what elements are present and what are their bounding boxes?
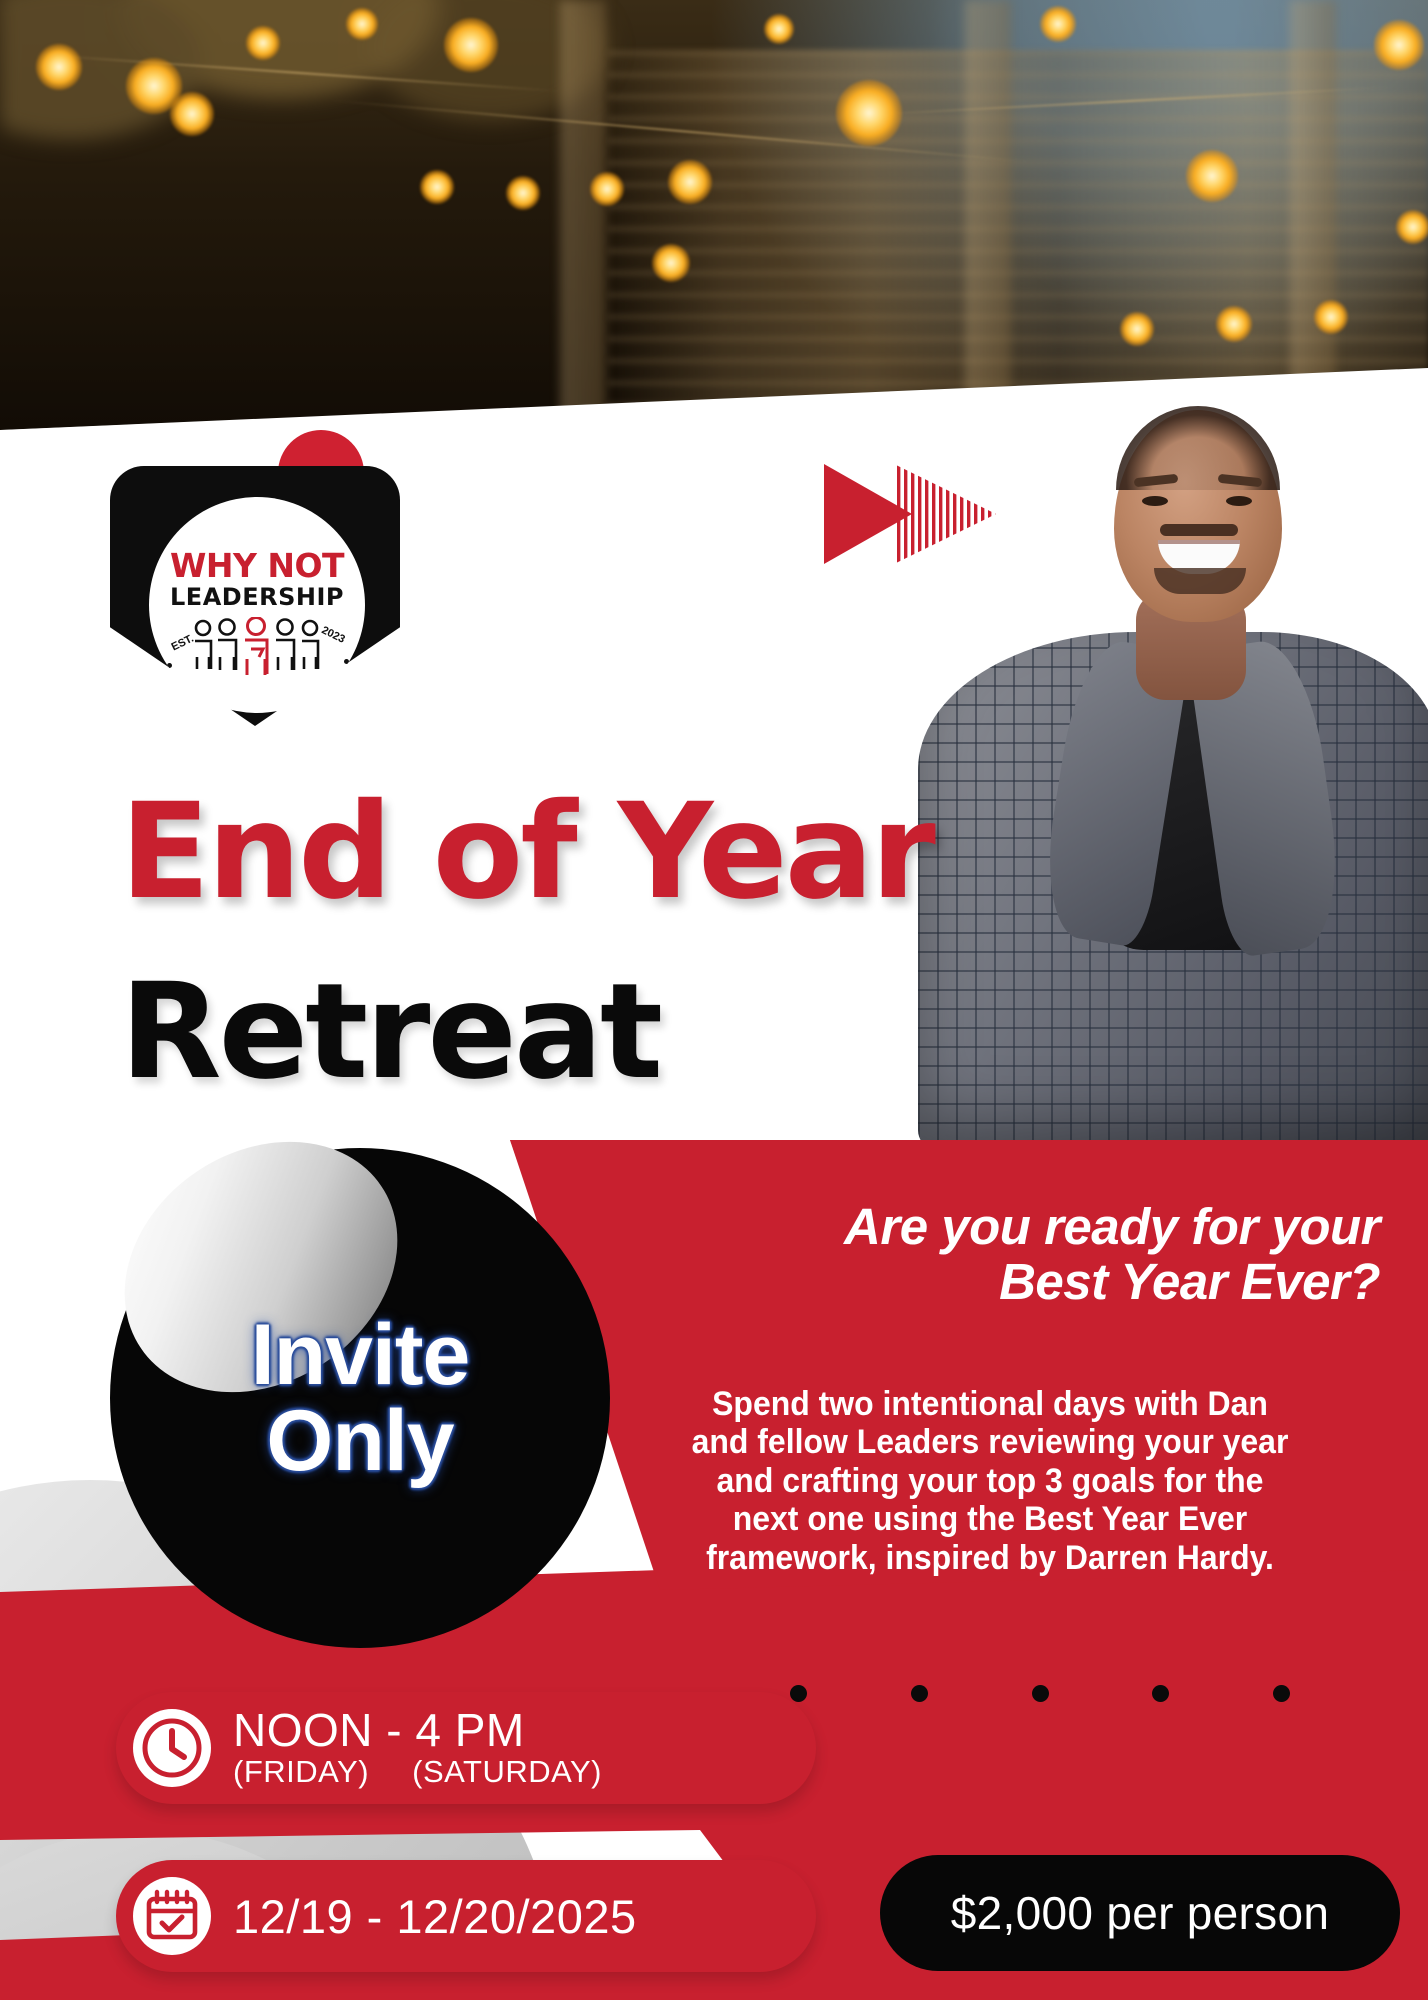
decor-dot	[1152, 1685, 1169, 1702]
page-title-line2: Retreat	[120, 966, 660, 1098]
time-pill: NOON - 4 PM (FRIDAY) (SATURDAY)	[116, 1692, 816, 1804]
string-light-bulb	[1040, 6, 1076, 42]
string-light-bulb	[1374, 20, 1424, 70]
people-group-icon	[191, 617, 323, 687]
string-light-bulb	[590, 172, 624, 206]
photo-post	[560, 0, 606, 430]
string-light-bulb	[36, 44, 82, 90]
speaker-moustache	[1160, 524, 1238, 536]
string-light-bulb	[668, 160, 712, 204]
speaker-eye	[1226, 496, 1252, 506]
string-light-bulb	[420, 170, 454, 204]
time-sub: (FRIDAY) (SATURDAY)	[233, 1755, 636, 1788]
time-sub-friday: (FRIDAY)	[233, 1754, 369, 1789]
photo-post	[965, 0, 1011, 430]
date-pill-text: 12/19 - 12/20/2025	[233, 1889, 637, 1944]
logo-line1: WHY NOT	[170, 549, 344, 582]
string-light-bulb	[1216, 306, 1252, 342]
date-range: 12/19 - 12/20/2025	[233, 1889, 637, 1944]
logo-line2: LEADERSHIP	[170, 585, 344, 609]
string-light-bulb	[836, 80, 902, 146]
string-light-bulb	[170, 92, 214, 136]
calendar-check-icon	[133, 1877, 211, 1955]
string-light-bulb	[346, 8, 378, 40]
decor-dots-row	[790, 1685, 1290, 1702]
decor-dot	[911, 1685, 928, 1702]
poster-canvas: WHY NOT LEADERSHIP EST. 2023	[0, 0, 1428, 2000]
decor-dot	[1032, 1685, 1049, 1702]
why-not-leadership-logo: WHY NOT LEADERSHIP EST. 2023	[149, 497, 365, 713]
time-main: NOON - 4 PM	[233, 1707, 636, 1755]
logo-year-label: 2023	[319, 624, 346, 646]
panel-body-text: Spend two intentional days with Dan and …	[680, 1385, 1300, 1577]
string-light-bulb	[1314, 300, 1348, 334]
price-label: $2,000 per person	[951, 1886, 1330, 1940]
clock-icon	[133, 1709, 211, 1787]
price-pill: $2,000 per person	[880, 1855, 1400, 1971]
string-light-bulb	[652, 244, 690, 282]
string-light-bulb	[444, 18, 498, 72]
decor-dot	[790, 1685, 807, 1702]
string-light-bulb	[1186, 150, 1238, 202]
time-pill-text: NOON - 4 PM (FRIDAY) (SATURDAY)	[233, 1707, 636, 1788]
photo-post	[1290, 0, 1336, 430]
panel-heading-line2: Best Year Ever?	[600, 1255, 1380, 1310]
string-light-bulb	[764, 14, 794, 44]
fast-forward-arrow-icon	[820, 458, 1000, 570]
string-light-bulb	[1120, 312, 1154, 346]
logo-bullet-dot	[344, 659, 349, 664]
speaker-eye	[1142, 496, 1168, 506]
panel-heading: Are you ready for your Best Year Ever?	[600, 1200, 1380, 1309]
venue-photo-banner	[0, 0, 1428, 430]
time-sub-saturday: (SATURDAY)	[412, 1754, 602, 1789]
logo-middle-row: EST. 2023	[157, 611, 357, 687]
speaker-goatee	[1154, 568, 1246, 594]
string-light-bulb	[246, 26, 280, 60]
logo-bullet-dot	[167, 663, 172, 668]
decor-dot	[1273, 1685, 1290, 1702]
page-title-line1: End of Year	[120, 786, 933, 918]
panel-heading-line1: Are you ready for your	[600, 1200, 1380, 1255]
string-light-bulb	[1396, 210, 1428, 244]
date-pill: 12/19 - 12/20/2025	[116, 1860, 816, 1972]
string-light-bulb	[506, 176, 540, 210]
